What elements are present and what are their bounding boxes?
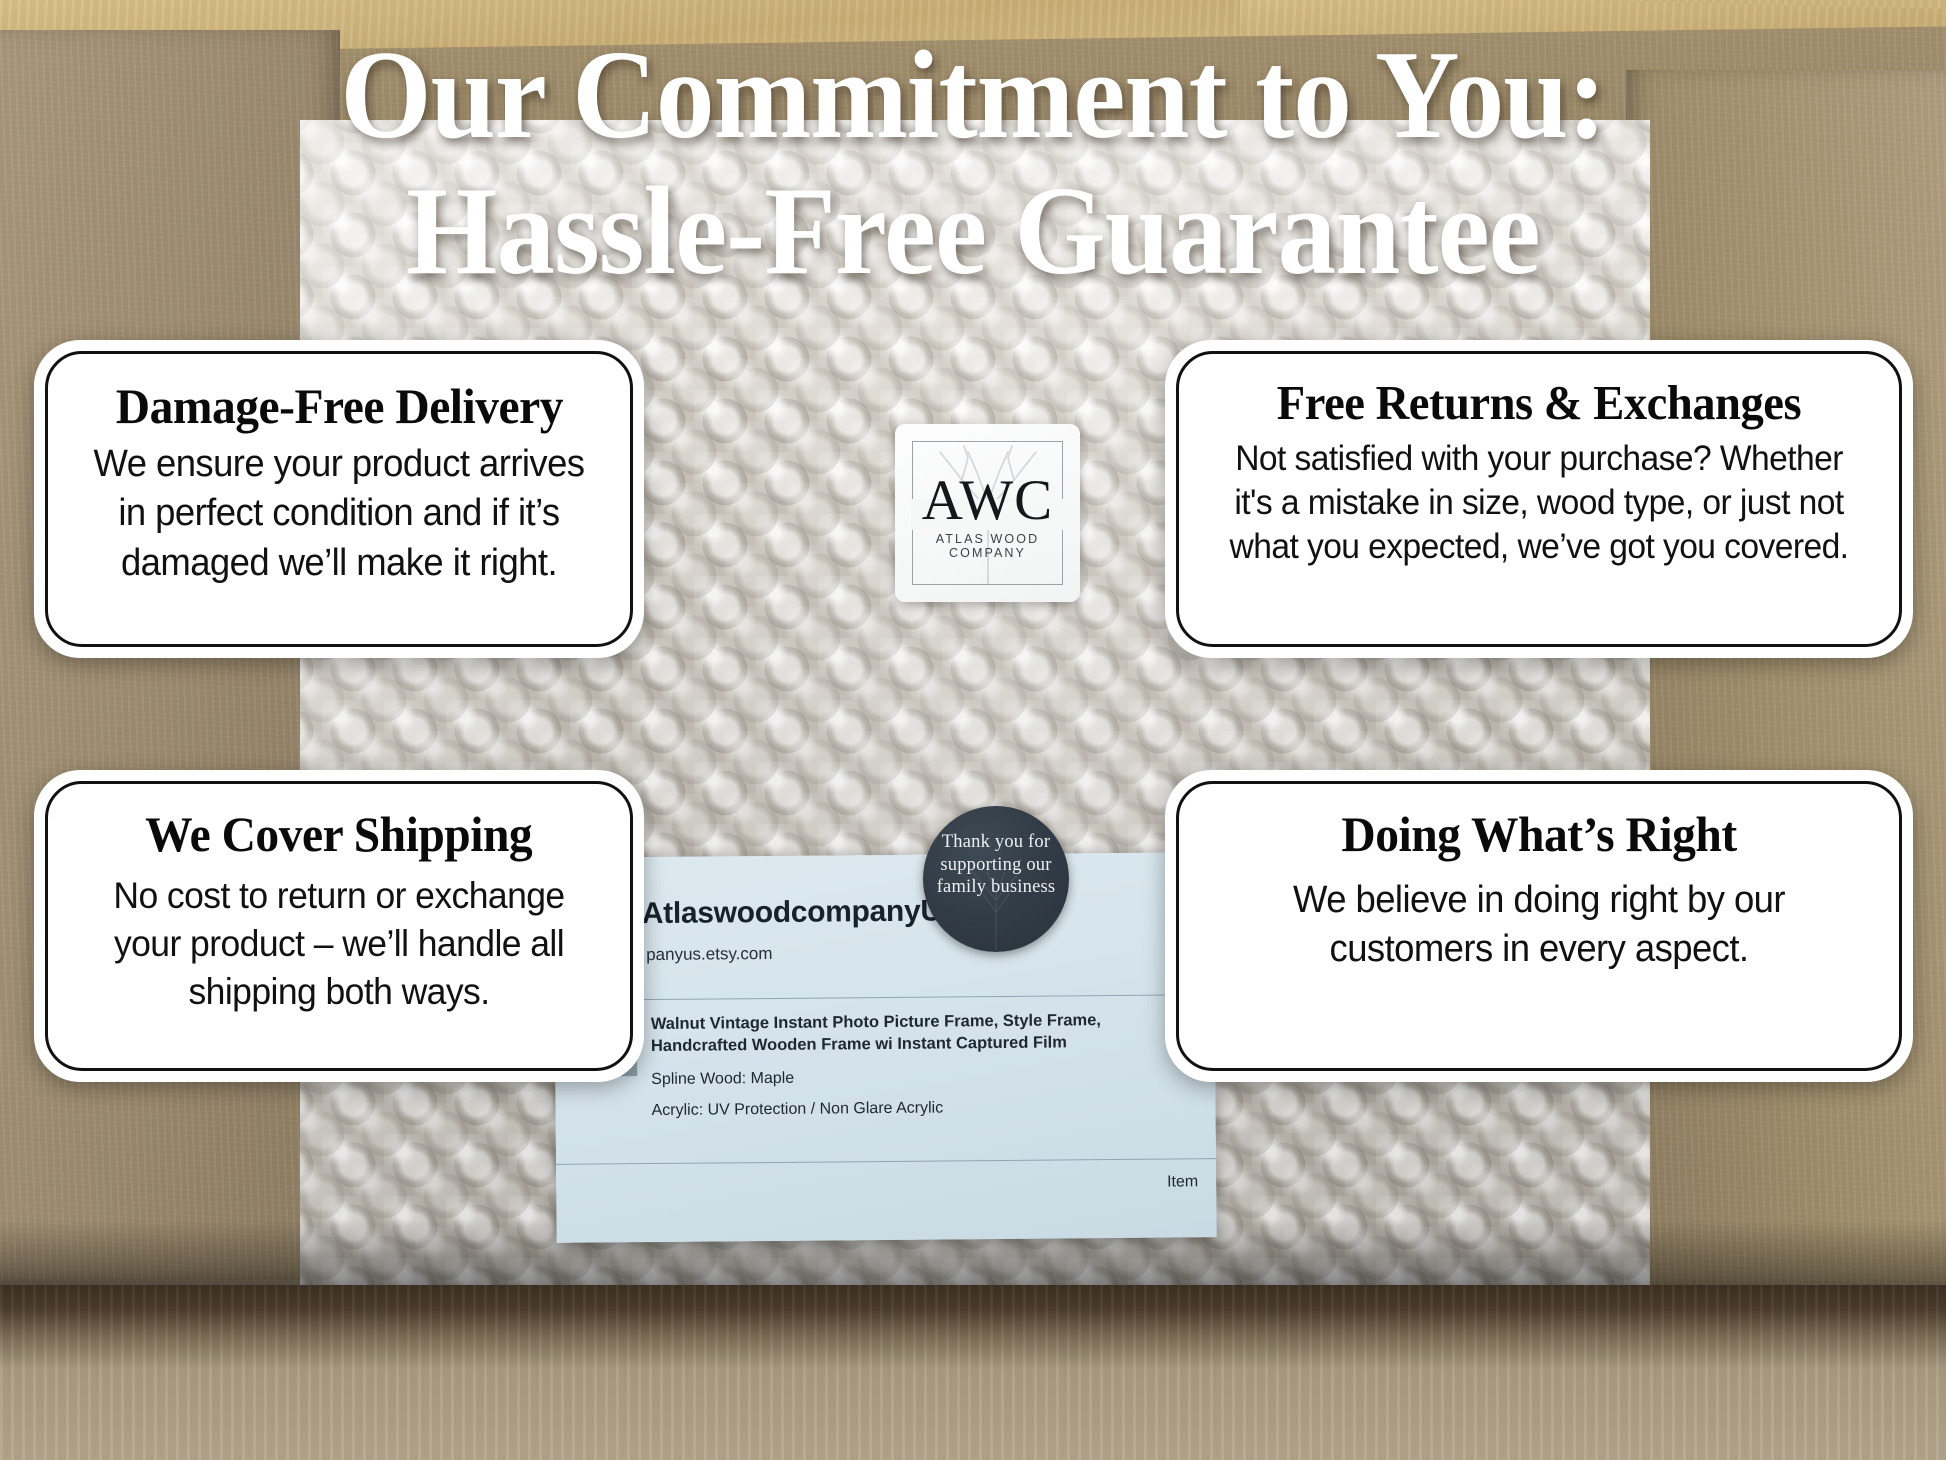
thank-you-text: Thank you for supporting our family busi… <box>937 831 1056 899</box>
page-title: Our Commitment to You: Hassle-Free Guara… <box>68 28 1878 300</box>
shop-name: AtlaswoodcompanyUS <box>642 894 962 931</box>
card-title: Free Returns & Exchanges <box>1277 376 1801 431</box>
card-body: No cost to return or exchange your produ… <box>85 872 594 1016</box>
card-title: Damage-Free Delivery <box>115 378 562 434</box>
infographic-canvas: AWC AtlaswoodcompanyUS panyus.etsy.com W… <box>0 0 1946 1460</box>
card-body: We ensure your product arrives in perfec… <box>85 440 594 588</box>
feature-card-damage-free-delivery: Damage-Free Delivery We ensure your prod… <box>34 340 644 658</box>
thank-you-line-2: supporting our <box>937 854 1056 877</box>
cardboard-box-front-edge <box>0 1285 1946 1460</box>
shipping-label: AWC AtlaswoodcompanyUS panyus.etsy.com W… <box>553 852 1216 1243</box>
card-title: Doing What’s Right <box>1341 806 1736 862</box>
feature-card-free-returns-exchanges: Free Returns & Exchanges Not satisfied w… <box>1165 340 1913 658</box>
product-spline-wood: Spline Wood: Maple <box>651 1066 1195 1089</box>
product-title: Walnut Vintage Instant Photo Picture Fra… <box>651 1009 1195 1057</box>
product-acrylic: Acrylic: UV Protection / Non Glare Acryl… <box>651 1097 1195 1120</box>
label-divider-bottom <box>556 1158 1216 1165</box>
feature-card-we-cover-shipping: We Cover Shipping No cost to return or e… <box>34 770 644 1082</box>
feature-card-doing-whats-right: Doing What’s Right We believe in doing r… <box>1165 770 1913 1082</box>
card-inner-border: Damage-Free Delivery We ensure your prod… <box>45 351 633 647</box>
card-body: We believe in doing right by our custome… <box>1218 876 1859 975</box>
card-inner-border: We Cover Shipping No cost to return or e… <box>45 781 633 1071</box>
card-title: We Cover Shipping <box>145 806 532 862</box>
page-title-line-2: Hassle-Free Guarantee <box>68 164 1878 300</box>
thank-you-sticker: Thank you for supporting our family busi… <box>923 806 1069 952</box>
brand-company-name: ATLAS WOOD COMPANY <box>895 532 1080 560</box>
item-label: Item <box>1167 1173 1198 1191</box>
thank-you-line-3: family business <box>937 876 1056 899</box>
shop-url: panyus.etsy.com <box>646 940 1194 965</box>
page-title-line-1: Our Commitment to You: <box>68 28 1878 164</box>
brand-sticker: AWC ATLAS WOOD COMPANY <box>895 424 1080 602</box>
brand-monogram: AWC <box>895 472 1080 529</box>
shipping-label-header: AWC AtlaswoodcompanyUS <box>574 884 1194 939</box>
cardboard-grain-front <box>0 1285 1946 1460</box>
product-row: Walnut Vintage Instant Photo Picture Fra… <box>575 1009 1196 1120</box>
label-divider <box>575 994 1195 1000</box>
card-body: Not satisfied with your purchase? Whethe… <box>1218 437 1859 569</box>
card-inner-border: Free Returns & Exchanges Not satisfied w… <box>1176 351 1902 647</box>
thank-you-line-1: Thank you for <box>937 831 1056 854</box>
card-inner-border: Doing What’s Right We believe in doing r… <box>1176 781 1902 1071</box>
